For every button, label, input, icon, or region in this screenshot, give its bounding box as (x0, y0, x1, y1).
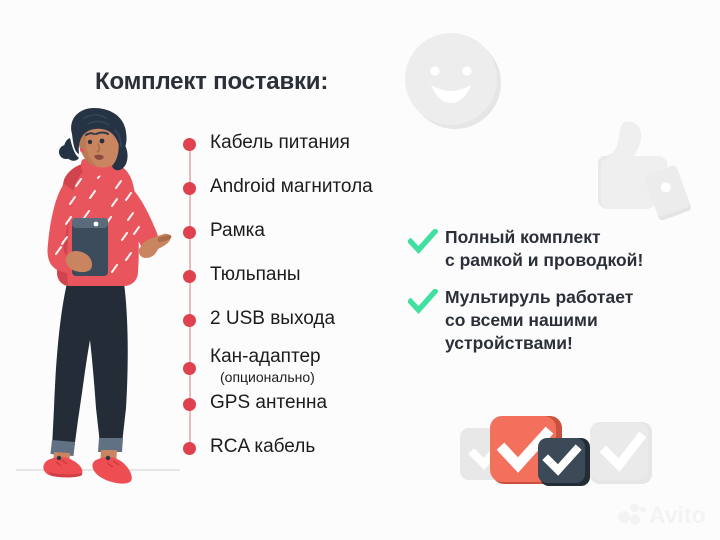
bullet-dot-icon (183, 442, 196, 455)
bullet-dot-icon (183, 138, 196, 151)
woman-pointing-illustration (12, 108, 184, 508)
benefit-item: Полный комплект с рамкой и проводкой! (408, 226, 708, 272)
list-item: 2 USB выхода (178, 304, 428, 334)
bullet-dot-icon (183, 362, 196, 375)
list-item-sublabel: (опционально) (220, 367, 315, 387)
list-item: Рамка (178, 216, 428, 246)
list-item: Android магнитола (178, 172, 428, 202)
check-icon (408, 229, 438, 255)
smiley-face-icon (399, 27, 507, 135)
benefits-list: Полный комплект с рамкой и проводкой! Му… (408, 226, 708, 369)
list-item: Тюльпаны (178, 260, 428, 290)
promo-card: Комплект поставки: (0, 0, 720, 540)
kit-list: Кабель питания Android магнитола Рамка Т… (178, 128, 428, 468)
bullet-dot-icon (183, 226, 196, 239)
list-item-label: RCA кабель (210, 432, 315, 462)
bullet-dot-icon (183, 314, 196, 327)
list-item-label: 2 USB выхода (210, 304, 335, 334)
list-item: RCA кабель (178, 432, 428, 462)
thumbs-up-icon (572, 104, 696, 228)
list-item-label: Android магнитола (210, 172, 373, 202)
bullet-dot-icon (183, 398, 196, 411)
avito-logo-icon: Avito (617, 500, 709, 528)
dark-checkbox (538, 438, 590, 486)
list-item: Кабель питания (178, 128, 428, 158)
check-icon (408, 289, 438, 315)
list-item: Кан-адаптер (опционально) (178, 342, 428, 372)
benefit-item: Мультируль работает со всеми нашими устр… (408, 286, 708, 355)
list-item-label: Кабель питания (210, 128, 350, 158)
benefit-text: Мультируль работает со всеми нашими устр… (408, 286, 708, 355)
list-item-label: GPS антенна (210, 388, 327, 418)
avito-wordmark: Avito (649, 502, 706, 528)
benefit-text: Полный комплект с рамкой и проводкой! (408, 226, 708, 272)
page-title: Комплект поставки: (95, 68, 328, 96)
list-item-label: Тюльпаны (210, 260, 301, 290)
list-item: GPS антенна (178, 388, 428, 418)
list-item-label: Рамка (210, 216, 265, 246)
checkbox-group-icon (458, 408, 678, 498)
bullet-dot-icon (183, 270, 196, 283)
gray-checkbox-right (590, 422, 652, 484)
bullet-dot-icon (183, 182, 196, 195)
